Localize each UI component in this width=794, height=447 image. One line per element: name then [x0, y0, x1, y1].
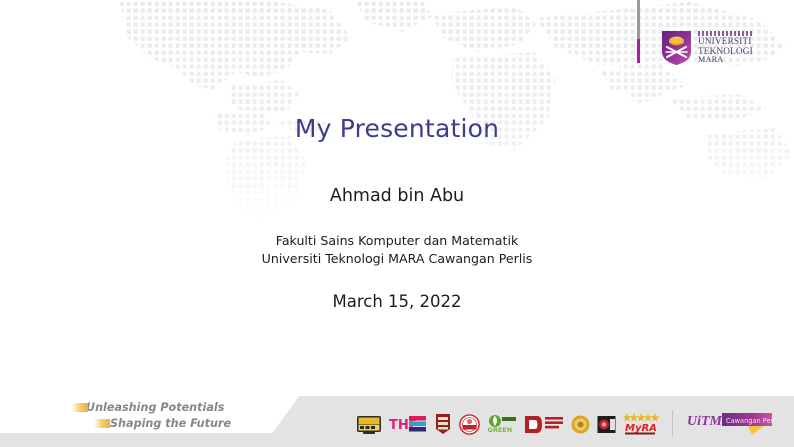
jawi-script-line-icon [698, 31, 752, 36]
slide-author: Ahmad bin Abu [0, 186, 794, 206]
footer-strip-separator [672, 410, 673, 436]
svg-text:MyRA: MyRA [625, 423, 657, 434]
svg-text:GREEN: GREEN [488, 426, 513, 434]
uitm-shield-emblem-icon [661, 30, 692, 66]
footer-tagline: Unleashing Potentials Shaping the Future [72, 400, 292, 432]
uitm-logo: UNIVERSITI TEKNOLOGI MARA [661, 28, 773, 68]
slide-title: My Presentation [0, 114, 794, 143]
tagline-line-1: Unleashing Potentials [72, 400, 292, 416]
uitm-logo-line-3: MARA [698, 56, 753, 64]
uitm-wordmark-text: UiTM [687, 414, 723, 429]
myra-five-star-rating-badge-icon: MyRA [623, 412, 659, 436]
gold-medal-award-badge-icon [571, 414, 590, 435]
uitm-campus-wordmark-logo: UiTM Cawangan Perlis [686, 411, 774, 437]
green-metric-ranking-badge-icon: GREEN [487, 414, 517, 435]
uitm-wordmark-sublabel: Cawangan Perlis [726, 417, 774, 425]
uitm-logo-wordmark: UNIVERSITI TEKNOLOGI MARA [698, 31, 753, 64]
qs-world-university-ranking-badge-icon [434, 413, 452, 435]
premier-digital-tech-university-badge-icon [524, 414, 564, 435]
tagline-line-2: Shaping the Future [72, 416, 292, 432]
times-higher-education-ranking-badge-icon: THE [389, 414, 427, 435]
affiliation-line-1: Fakulti Sains Komputer dan Matematik [276, 233, 519, 248]
footer-award-logo-strip: THE GREEN [356, 409, 659, 439]
slide-affiliation: Fakulti Sains Komputer dan Matematik Uni… [0, 232, 794, 268]
header-vertical-divider [637, 0, 640, 63]
accreditation-seal-badge-icon [459, 414, 480, 435]
innovation-award-badge-icon [597, 414, 616, 435]
qs-stars-rating-badge-icon [356, 414, 382, 435]
presentation-slide: UNIVERSITI TEKNOLOGI MARA My Presentatio… [0, 0, 794, 447]
slide-date: March 15, 2022 [0, 292, 794, 311]
affiliation-line-2: Universiti Teknologi MARA Cawangan Perli… [262, 251, 533, 266]
